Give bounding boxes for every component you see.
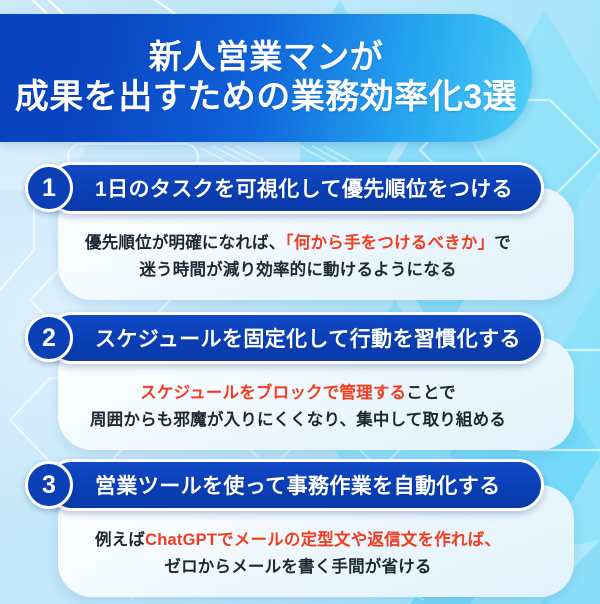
section-2-number-badge: 2 <box>25 314 73 362</box>
section-1-body: 優先順位が明確になれば、「何から手をつけるべきか」で迷う時間が減り効率的に動ける… <box>22 230 574 283</box>
section-2-body: スケジュールをブロックで管理することで周囲からも邪魔が入りにくくなり、集中して取… <box>22 380 574 433</box>
body-line-1: 優先順位が明確になれば、「何から手をつけるべきか」で <box>22 230 574 257</box>
infographic-poster: 新人営業マンが 成果を出すための業務効率化3選 1 1日のタスクを可視化して優先… <box>0 0 600 604</box>
body-line-2: 周囲からも邪魔が入りにくくなり、集中して取り組める <box>22 407 574 434</box>
section-3-title: 営業ツールを使って事務作業を自動化する <box>95 470 501 500</box>
highlighted-text: 「何から手をつけるべきか」 <box>285 234 494 252</box>
section-2: 2 スケジュールを固定化して行動を習慣化する スケジュールをブロックで管理するこ… <box>22 312 574 433</box>
plain-text: 周囲からも邪魔が入りにくくなり、集中して取り組める <box>90 411 506 429</box>
section-1-header-pill[interactable]: 1 1日のタスクを可視化して優先順位をつける <box>46 162 544 214</box>
section-1-title: 1日のタスクを可視化して優先順位をつける <box>95 173 513 203</box>
plain-text: で <box>494 234 511 252</box>
header-banner: 新人営業マンが 成果を出すための業務効率化3選 <box>0 14 532 142</box>
plain-text: 優先順位が明確になれば、 <box>85 234 285 252</box>
body-line-1: 例えばChatGPTでメールの定型文や返信文を作れば、 <box>22 527 574 554</box>
body-line-2: 迷う時間が減り効率的に動けるようになる <box>22 257 574 284</box>
highlighted-text: ChatGPTでメールの定型文や返信文を作れば、 <box>145 531 501 549</box>
section-3: 3 営業ツールを使って事務作業を自動化する 例えばChatGPTでメールの定型文… <box>22 459 574 580</box>
plain-text: ことで <box>406 384 456 402</box>
plain-text: ゼロからメールを書く手間が省ける <box>164 558 431 576</box>
body-line-1: スケジュールをブロックで管理することで <box>22 380 574 407</box>
section-2-title: スケジュールを固定化して行動を習慣化する <box>95 323 521 353</box>
section-1-number-badge: 1 <box>25 164 73 212</box>
plain-text: 例えば <box>95 531 145 549</box>
plain-text: 迷う時間が減り効率的に動けるようになる <box>139 261 456 279</box>
body-line-2: ゼロからメールを書く手間が省ける <box>22 554 574 581</box>
section-3-number-badge: 3 <box>25 461 73 509</box>
header-title-line-1: 新人営業マンが <box>149 39 384 76</box>
section-1: 1 1日のタスクを可視化して優先順位をつける 優先順位が明確になれば、「何から手… <box>22 162 574 283</box>
section-3-body: 例えばChatGPTでメールの定型文や返信文を作れば、ゼロからメールを書く手間が… <box>22 527 574 580</box>
header-title-line-2: 成果を出すための業務効率化3選 <box>15 78 517 116</box>
section-2-header-pill[interactable]: 2 スケジュールを固定化して行動を習慣化する <box>46 312 544 364</box>
highlighted-text: スケジュールをブロックで管理する <box>140 384 406 402</box>
section-3-header-pill[interactable]: 3 営業ツールを使って事務作業を自動化する <box>46 459 544 511</box>
